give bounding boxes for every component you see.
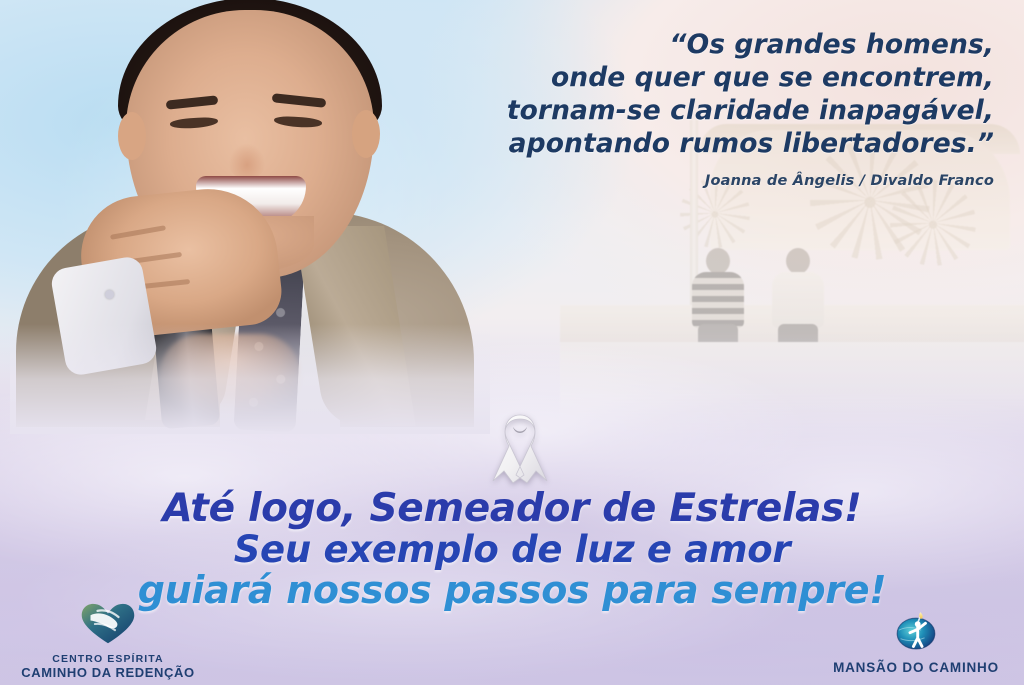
heart-hands-icon: [8, 603, 208, 650]
farewell-message: Até logo, Semeador de Estrelas! Seu exem…: [0, 488, 1024, 611]
figure-head: [706, 248, 730, 274]
globe-figure-torch-icon: [816, 611, 1016, 656]
logo-line-2: CAMINHO DA REDENÇÃO: [8, 666, 208, 679]
quote-line-2: onde quer que se encontrem,: [434, 61, 994, 94]
white-awareness-ribbon-icon: [487, 413, 553, 487]
logo-centro-espirita: CENTRO ESPÍRITA CAMINHO DA REDENÇÃO: [8, 603, 208, 679]
portrait-fade-mask: [10, 324, 490, 434]
quote-line-1: “Os grandes homens,: [434, 28, 994, 61]
portrait-ear-left: [118, 112, 146, 160]
quote-attribution: Joanna de Ângelis / Divaldo Franco: [434, 173, 994, 189]
portrait-ear-right: [352, 110, 380, 158]
portrait-photo: [10, 0, 480, 424]
figure-head: [786, 248, 810, 274]
memorial-poster: “Os grandes homens, onde quer que se enc…: [0, 0, 1024, 685]
quote-line-3: tornam-se claridade inapagável,: [434, 94, 994, 127]
portrait-cuff-button: [105, 290, 114, 299]
logo-mansao-do-caminho: MANSÃO DO CAMINHO: [816, 611, 1016, 677]
quote-block: “Os grandes homens, onde quer que se enc…: [434, 28, 994, 189]
message-line-2: Seu exemplo de luz e amor: [0, 530, 1024, 570]
logo-mansao-label: MANSÃO DO CAMINHO: [833, 660, 999, 675]
message-line-1: Até logo, Semeador de Estrelas!: [0, 488, 1024, 530]
portrait-nose: [226, 130, 268, 180]
palm-tree-icon: [890, 180, 976, 266]
quote-line-4: apontando rumos libertadores.”: [434, 127, 994, 160]
logo-centro-espirita-label: CENTRO ESPÍRITA CAMINHO DA REDENÇÃO: [8, 653, 208, 679]
